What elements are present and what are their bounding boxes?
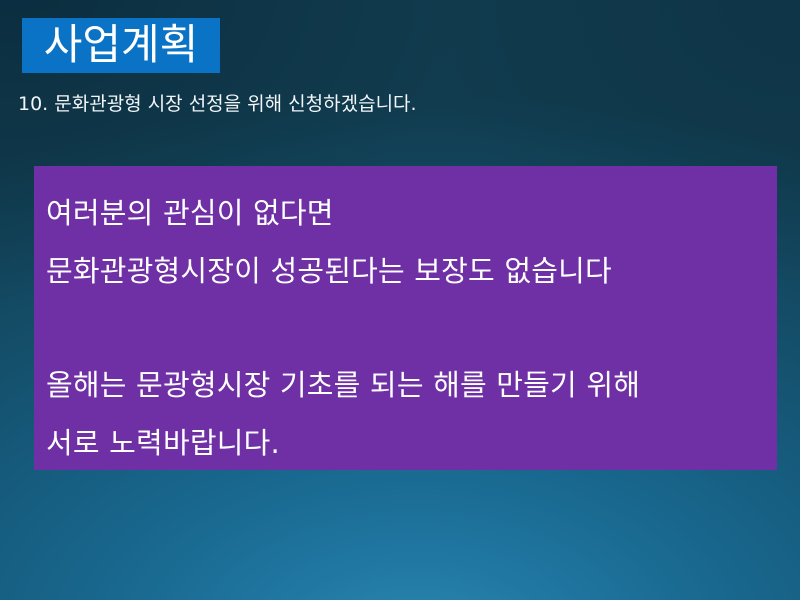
- body-line-3: 올해는 문광형시장 기초를 되는 해를 만들기 위해: [42, 356, 777, 414]
- slide-title-box: 사업계획: [22, 18, 220, 73]
- slide-content: 사업계획 10. 문화관광형 시장 선정을 위해 신청하겠습니다. 여러분의 관…: [0, 0, 800, 600]
- body-line-2: 문화관광형시장이 성공된다는 보장도 없습니다: [42, 242, 777, 300]
- body-text-panel: 여러분의 관심이 없다면 문화관광형시장이 성공된다는 보장도 없습니다 올해는…: [34, 166, 777, 470]
- slide-canvas: 사업계획 10. 문화관광형 시장 선정을 위해 신청하겠습니다. 여러분의 관…: [0, 0, 800, 600]
- body-line-blank: [42, 300, 777, 356]
- page-title: 사업계획: [44, 24, 199, 66]
- body-line-4: 서로 노력바랍니다.: [42, 414, 777, 472]
- slide-subtitle: 10. 문화관광형 시장 선정을 위해 신청하겠습니다.: [18, 91, 778, 117]
- body-line-1: 여러분의 관심이 없다면: [42, 184, 777, 242]
